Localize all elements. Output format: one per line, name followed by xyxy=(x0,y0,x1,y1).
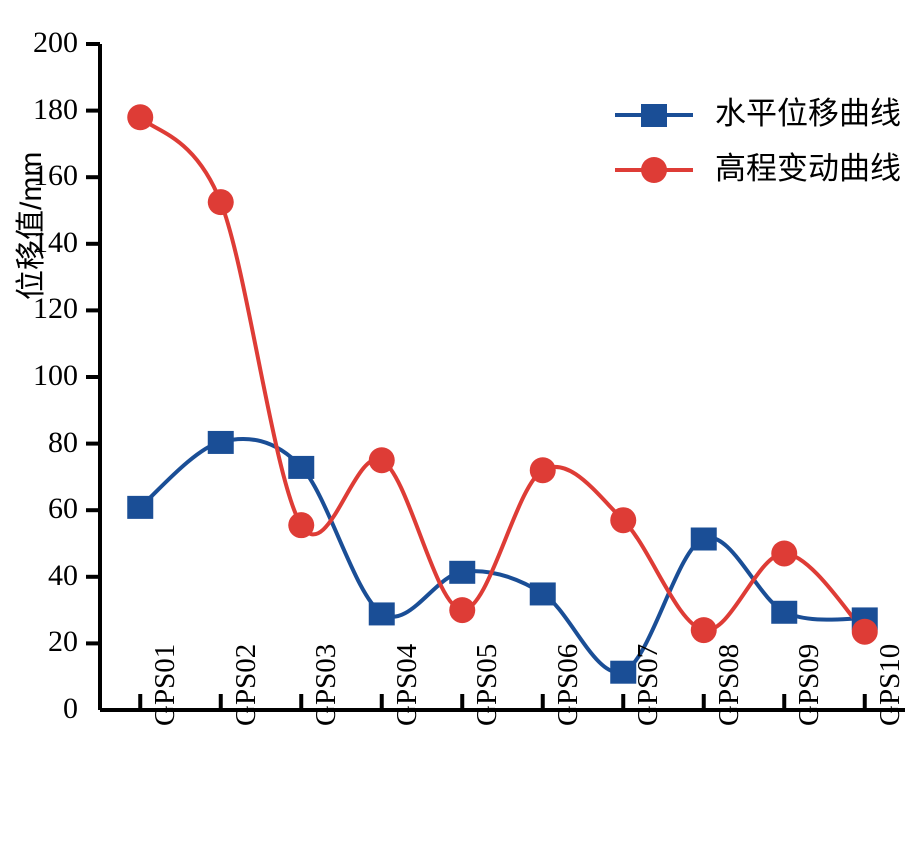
y-axis-tick-label: 140 xyxy=(33,228,78,258)
data-point-marker[interactable] xyxy=(691,528,717,551)
data-point-marker[interactable] xyxy=(127,104,153,130)
data-point-marker[interactable] xyxy=(771,540,797,566)
x-axis-tick-label: GPS03 xyxy=(312,644,341,726)
x-axis-tick-label: GPS06 xyxy=(554,644,583,726)
data-point-marker[interactable] xyxy=(369,602,395,625)
data-point-marker[interactable] xyxy=(127,496,153,519)
x-axis-tick-label: GPS10 xyxy=(876,644,905,726)
series-line xyxy=(140,117,865,631)
legend-marker xyxy=(641,104,667,127)
data-point-marker[interactable] xyxy=(530,457,556,483)
data-point-marker[interactable] xyxy=(449,597,475,623)
x-axis-tick-label: GPS05 xyxy=(473,644,502,726)
legend-item-label[interactable]: 高程变动曲线 xyxy=(715,153,901,184)
data-point-marker[interactable] xyxy=(449,561,475,584)
y-axis-tick-label: 80 xyxy=(48,428,78,458)
x-axis-tick-label: GPS08 xyxy=(715,644,744,726)
data-point-marker[interactable] xyxy=(530,582,556,605)
y-axis-tick-label: 100 xyxy=(33,361,78,391)
y-axis-tick-label: 200 xyxy=(33,28,78,58)
x-axis-tick-label: GPS02 xyxy=(232,644,261,726)
series-line xyxy=(140,439,865,673)
data-point-marker[interactable] xyxy=(208,189,234,215)
data-point-marker[interactable] xyxy=(208,431,234,454)
x-axis-tick-label: GPS09 xyxy=(795,644,824,726)
data-point-marker[interactable] xyxy=(369,447,395,473)
y-axis-tick-label: 60 xyxy=(48,494,78,524)
y-axis-tick-label: 180 xyxy=(33,95,78,125)
y-axis-tick-label: 20 xyxy=(48,627,78,657)
y-axis-tick-label: 160 xyxy=(33,161,78,191)
data-point-marker[interactable] xyxy=(288,512,314,538)
x-axis-tick-label: GPS07 xyxy=(634,644,663,726)
data-point-marker[interactable] xyxy=(852,619,878,645)
x-axis-tick-label: GPS01 xyxy=(151,644,180,726)
legend-item-label[interactable]: 水平位移曲线 xyxy=(715,98,901,129)
y-axis-tick-label: 0 xyxy=(63,694,78,724)
y-axis-tick-label: 40 xyxy=(48,561,78,591)
data-point-marker[interactable] xyxy=(691,617,717,643)
chart-container: 位移值/mm 020406080100120140160180200GPS01G… xyxy=(0,0,924,844)
data-point-marker[interactable] xyxy=(610,507,636,533)
x-axis-tick-label: GPS04 xyxy=(393,644,422,726)
y-axis-tick-label: 120 xyxy=(33,294,78,324)
data-point-marker[interactable] xyxy=(771,601,797,624)
legend-marker xyxy=(641,157,667,183)
data-point-marker[interactable] xyxy=(288,456,314,479)
